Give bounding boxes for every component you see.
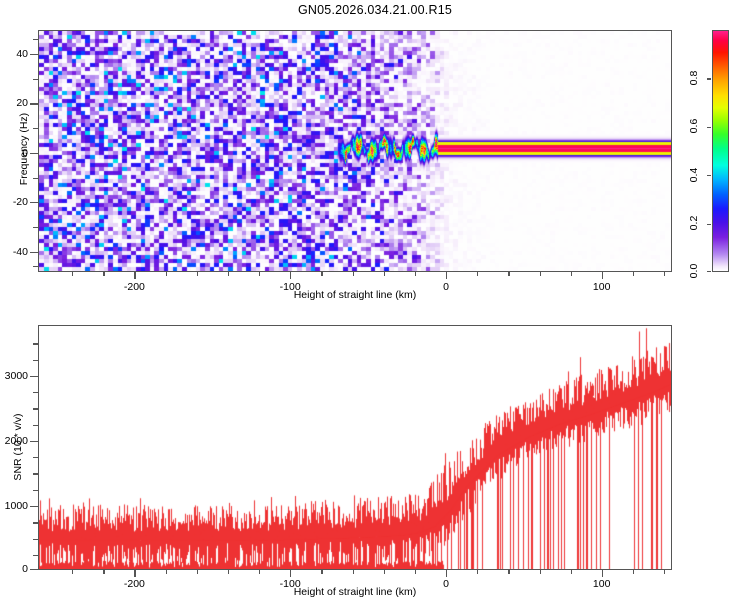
colorbar-label-0.6: 0.6 xyxy=(688,106,700,146)
spec-xtick-minor xyxy=(571,272,572,276)
snr-trace-image xyxy=(39,326,671,569)
spec-ylabel: Frequency (Hz) xyxy=(18,79,30,219)
spec-xtick-minor xyxy=(197,272,198,276)
spec-xtick-minor xyxy=(228,272,229,276)
snr-xtick-100 xyxy=(602,570,603,577)
snr-panel xyxy=(38,325,672,570)
snr-xtick-minor xyxy=(571,570,572,574)
spec-xtick-minor xyxy=(540,272,541,276)
spec-ytick-minor xyxy=(33,266,38,267)
spec-xtick-minor xyxy=(384,272,385,276)
snr-ytick-2000 xyxy=(30,441,38,442)
snr-xtick-label-100: 100 xyxy=(572,578,632,590)
spec-ytick-minor xyxy=(33,227,38,228)
colorbar-label-0.4: 0.4 xyxy=(688,155,700,195)
spec-xtick-minor xyxy=(633,272,634,276)
snr-xtick-minor xyxy=(477,570,478,574)
snr-ytick-minor xyxy=(33,408,38,409)
figure-root: GN05.2026.034.21.00.R15 40 20 0 -20 -40 … xyxy=(0,0,750,600)
colorbar-tick-0.8 xyxy=(707,78,711,79)
spec-ytick-label-40: 40 xyxy=(0,48,28,60)
snr-ytick-minor xyxy=(33,425,38,426)
spec-xtick-minor xyxy=(664,272,665,276)
spectrogram-panel xyxy=(38,30,672,272)
figure-title: GN05.2026.034.21.00.R15 xyxy=(0,3,750,17)
spec-ytick-minor xyxy=(33,128,38,129)
snr-xlabel: Height of straight line (km) xyxy=(255,586,455,598)
spec-ytick-0 xyxy=(30,153,38,154)
snr-xtick-minor xyxy=(228,570,229,574)
spec-ytick-label--40: -40 xyxy=(0,246,28,258)
snr-ylabel: SNR (10 * v/v) xyxy=(12,377,24,517)
spec-ytick--40 xyxy=(30,252,38,253)
spec-xtick-minor xyxy=(259,272,260,276)
spec-xtick-minor xyxy=(166,272,167,276)
colorbar-label-0.0: 0.0 xyxy=(688,251,700,291)
spec-xtick-minor xyxy=(321,272,322,276)
snr-xtick-minor xyxy=(384,570,385,574)
colorbar-tick-0.6 xyxy=(707,127,711,128)
spec-xtick-0 xyxy=(446,272,447,279)
spectrogram-image xyxy=(39,31,671,271)
spec-xtick-label--200: -200 xyxy=(104,281,164,293)
colorbar-label-0.2: 0.2 xyxy=(688,203,700,243)
spec-xtick-minor xyxy=(72,272,73,276)
spec-xtick-minor xyxy=(508,272,509,276)
snr-xtick-minor xyxy=(72,570,73,574)
colorbar-label-0.8: 0.8 xyxy=(688,58,700,98)
snr-xtick-minor xyxy=(353,570,354,574)
spec-xtick-label-100: 100 xyxy=(572,281,632,293)
snr-ytick-minor xyxy=(33,457,38,458)
snr-xtick--100 xyxy=(290,570,291,577)
spec-xtick-minor xyxy=(477,272,478,276)
snr-xtick-0 xyxy=(446,570,447,577)
spec-xtick--200 xyxy=(134,272,135,279)
snr-xtick-label--200: -200 xyxy=(104,578,164,590)
snr-xtick-minor xyxy=(540,570,541,574)
colorbar xyxy=(712,30,729,272)
spec-xtick-100 xyxy=(602,272,603,279)
spec-ytick-40 xyxy=(30,54,38,55)
snr-ytick-minor xyxy=(33,360,38,361)
spec-xtick-minor xyxy=(353,272,354,276)
spec-ytick-20 xyxy=(30,103,38,104)
spectrogram-plot-area xyxy=(39,31,671,271)
colorbar-tick-0.2 xyxy=(707,224,711,225)
snr-ytick-minor xyxy=(33,522,38,523)
snr-xtick-minor xyxy=(166,570,167,574)
snr-xtick-minor xyxy=(321,570,322,574)
snr-ytick-minor xyxy=(33,392,38,393)
snr-ytick-0 xyxy=(30,569,38,570)
snr-xtick-minor xyxy=(197,570,198,574)
snr-xtick-minor xyxy=(415,570,416,574)
snr-xtick-minor xyxy=(633,570,634,574)
snr-ytick-3000 xyxy=(30,376,38,377)
spec-xtick--100 xyxy=(290,272,291,279)
snr-ytick-label-0: 0 xyxy=(0,563,28,575)
snr-ytick-minor xyxy=(33,555,38,556)
spec-ytick-minor xyxy=(33,39,38,40)
snr-ytick-minor xyxy=(33,473,38,474)
snr-xtick-minor xyxy=(508,570,509,574)
snr-xtick-minor xyxy=(259,570,260,574)
spec-ytick-minor xyxy=(33,79,38,80)
spec-ytick-minor xyxy=(33,178,38,179)
snr-ytick-minor xyxy=(33,490,38,491)
spec-xtick-minor xyxy=(103,272,104,276)
spec-xtick-minor xyxy=(415,272,416,276)
snr-ytick-minor xyxy=(33,343,38,344)
snr-xtick-minor xyxy=(664,570,665,574)
colorbar-tick-0.0 xyxy=(707,271,711,272)
snr-xtick--200 xyxy=(134,570,135,577)
snr-ytick-1000 xyxy=(30,506,38,507)
spec-ytick--20 xyxy=(30,202,38,203)
snr-ytick-minor xyxy=(33,539,38,540)
colorbar-tick-0.4 xyxy=(707,175,711,176)
snr-xtick-minor xyxy=(103,570,104,574)
spec-xlabel: Height of straight line (km) xyxy=(255,289,455,301)
snr-plot-area xyxy=(39,326,671,569)
